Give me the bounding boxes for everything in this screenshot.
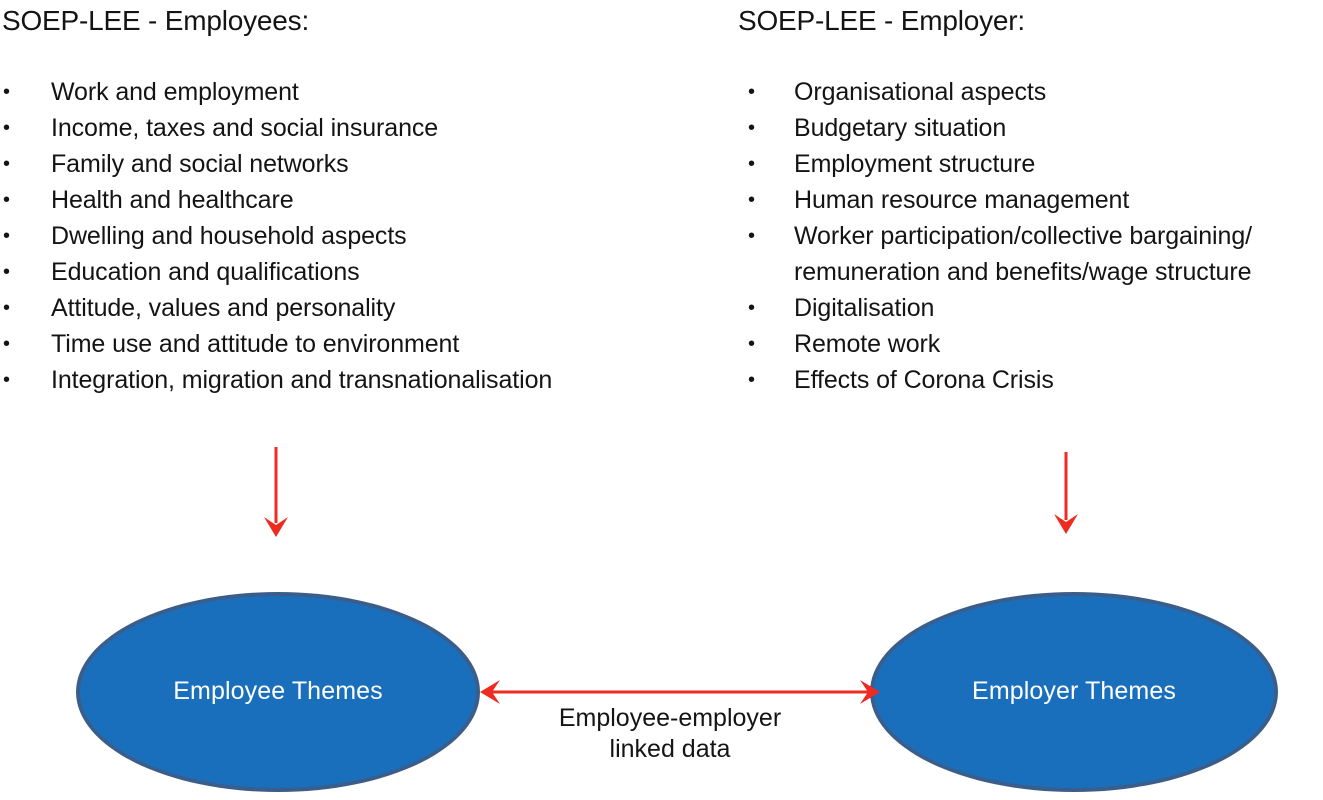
employees-topic-list: Work and employment Income, taxes and so… bbox=[0, 74, 700, 398]
list-item: Budgetary situation bbox=[744, 110, 1323, 146]
down-arrow-icon-left bbox=[256, 445, 296, 545]
list-item: Organisational aspects bbox=[744, 74, 1323, 110]
link-caption-line-2: linked data bbox=[490, 734, 850, 765]
down-arrow-icon-right bbox=[1046, 450, 1086, 550]
list-item: Time use and attitude to environment bbox=[0, 326, 700, 362]
list-item: Work and employment bbox=[0, 74, 700, 110]
diagram-canvas: SOEP-LEE - Employees: Work and employmen… bbox=[0, 0, 1323, 800]
employee-themes-label: Employee Themes bbox=[173, 677, 382, 706]
employer-topic-list: Organisational aspects Budgetary situati… bbox=[744, 74, 1323, 398]
list-item: Digitalisation bbox=[744, 290, 1323, 326]
list-item: Health and healthcare bbox=[0, 182, 700, 218]
list-item: Effects of Corona Crisis bbox=[744, 362, 1323, 398]
list-item: Income, taxes and social insurance bbox=[0, 110, 700, 146]
employer-themes-label: Employer Themes bbox=[972, 677, 1176, 706]
employees-column-title: SOEP-LEE - Employees: bbox=[2, 4, 309, 38]
list-item: Human resource management bbox=[744, 182, 1323, 218]
list-item: Education and qualifications bbox=[0, 254, 700, 290]
list-item: Worker participation/collective bargaini… bbox=[744, 218, 1323, 290]
list-item: Dwelling and household aspects bbox=[0, 218, 700, 254]
link-caption-line-1: Employee-employer bbox=[490, 703, 850, 734]
list-item: Family and social networks bbox=[0, 146, 700, 182]
link-caption: Employee-employer linked data bbox=[490, 703, 850, 765]
list-item: Remote work bbox=[744, 326, 1323, 362]
employer-column-title: SOEP-LEE - Employer: bbox=[738, 4, 1025, 38]
employer-themes-node[interactable]: Employer Themes bbox=[870, 592, 1278, 792]
list-item: Employment structure bbox=[744, 146, 1323, 182]
list-item: Attitude, values and personality bbox=[0, 290, 700, 326]
employee-themes-node[interactable]: Employee Themes bbox=[76, 592, 480, 792]
list-item: Integration, migration and transnational… bbox=[0, 362, 700, 398]
